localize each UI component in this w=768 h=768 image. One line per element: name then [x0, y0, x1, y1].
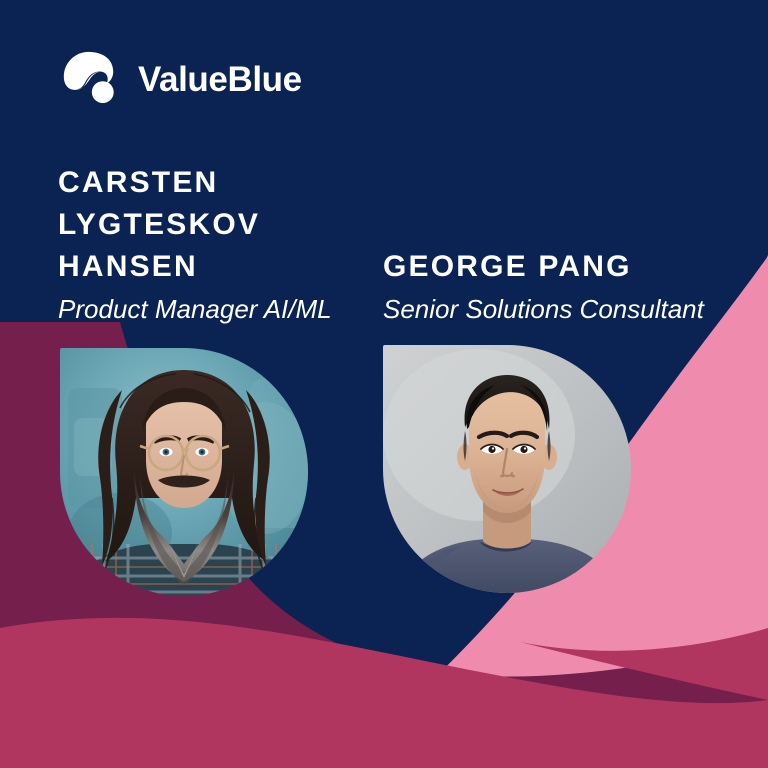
avatar-george-photo [383, 345, 631, 593]
avatar-george-pang [383, 345, 631, 593]
brand-name: ValueBlue [138, 62, 302, 97]
brand-logo: ValueBlue [58, 48, 302, 110]
wave-magenta-bright-right [520, 628, 768, 700]
avatar-carsten-photo [60, 348, 308, 596]
speaker-2-info: GEORGE PANG Senior Solutions Consultant [383, 246, 704, 328]
speaker-1-name: CARSTEN LYGTESKOV HANSEN [58, 162, 332, 288]
speaker-2-name: GEORGE PANG [383, 246, 704, 288]
avatar-carsten-lygteskov-hansen [60, 348, 308, 596]
speaker-announcement-card: ValueBlue CARSTEN LYGTESKOV HANSEN Produ… [0, 0, 768, 768]
speaker-1-info: CARSTEN LYGTESKOV HANSEN Product Manager… [58, 162, 332, 328]
speaker-2-role: Senior Solutions Consultant [383, 290, 704, 328]
valueblue-leaf-logo-icon [58, 48, 120, 110]
speaker-1-role: Product Manager AI/ML [58, 290, 332, 328]
wave-magenta-bright [0, 618, 768, 768]
